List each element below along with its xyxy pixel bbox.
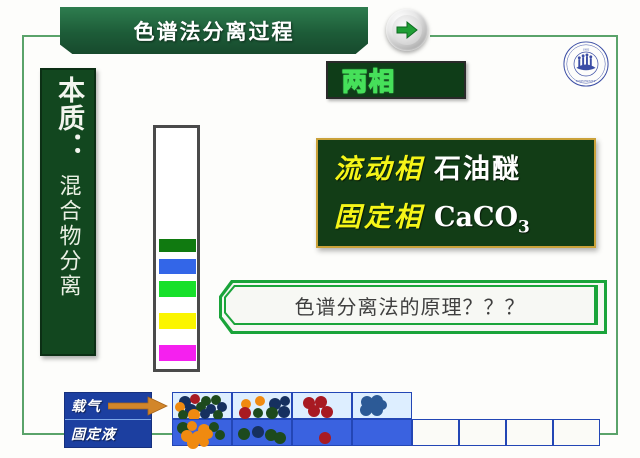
phase-info-box: 流动相 石油醚 固定相 CaCO3 (316, 138, 596, 248)
slide-canvas: 色谱法分离过程 1902 UNIVERSITY 本质： 混合物分离 两相 (0, 0, 640, 458)
arrow-right-icon (396, 20, 418, 40)
particle-red (308, 405, 320, 417)
next-button-face (392, 15, 422, 45)
chrom-cell-empty-0 (412, 419, 459, 446)
essence-heading: 本质： (54, 76, 82, 160)
university-seal-logo: 1902 UNIVERSITY (562, 40, 610, 88)
frame-line-top-left (22, 35, 62, 37)
chromatography-cell-grid (172, 392, 412, 446)
particle-dark-green (274, 432, 286, 444)
particle-orange (199, 437, 209, 447)
page-title: 色谱法分离过程 (60, 7, 368, 54)
chrom-cell-top-3 (352, 392, 412, 419)
question-box-face: 色谱分离法的原理？？？ (226, 287, 594, 323)
particle-red (321, 406, 333, 418)
chrom-cell-top-1 (232, 392, 292, 419)
essence-body: 混合物分离 (56, 174, 79, 299)
chrom-cell-empty-1 (459, 419, 506, 446)
particle-dark-blue (200, 409, 210, 419)
particle-dark-green (253, 408, 263, 418)
band-yellow (159, 313, 196, 329)
chrom-cell-bot-1 (232, 419, 292, 446)
legend-label-carrier-gas: 载气 (71, 396, 101, 416)
particle-dark-blue (280, 396, 290, 406)
svg-text:1902: 1902 (583, 48, 590, 52)
particle-dark-blue (252, 426, 264, 438)
chrom-cell-top-0 (172, 392, 232, 419)
stationary-phase-value: CaCO3 (434, 202, 530, 237)
particle-dark-blue (278, 406, 290, 418)
chrom-cell-bot-2 (292, 419, 352, 446)
stationary-phase-label: 固定相 (334, 195, 424, 234)
chrom-cell-empty-3 (553, 419, 600, 446)
stationary-phase-row: 固定相 CaCO3 (334, 195, 594, 243)
svg-text:UNIVERSITY: UNIVERSITY (576, 79, 597, 83)
particle-orange (187, 437, 199, 449)
carrier-gas-flow-arrow-icon (108, 396, 168, 416)
frame-line-right (616, 35, 618, 435)
particle-dark-green (266, 407, 278, 419)
mobile-phase-value: 石油醚 (434, 147, 521, 186)
two-phase-label: 两相 (342, 62, 396, 98)
mobile-phase-row: 流动相 石油醚 (334, 147, 594, 195)
legend-row-stationary-liquid: 固定液 (65, 420, 151, 447)
two-phase-box: 两相 (326, 61, 466, 99)
next-slide-button[interactable] (386, 9, 428, 51)
band-magenta (159, 345, 196, 361)
essence-panel: 本质： 混合物分离 (40, 68, 96, 356)
frame-line-left (22, 35, 24, 435)
question-text: 色谱分离法的原理？？？ (295, 291, 526, 320)
frame-line-top-right (430, 35, 618, 37)
chrom-cell-empty-2 (506, 419, 553, 446)
chrom-cell-bot-0 (172, 419, 232, 446)
legend-label-stationary-liquid: 固定液 (71, 424, 116, 444)
particle-dark-green (238, 428, 250, 440)
band-blue (159, 259, 196, 274)
particle-dark-green (215, 430, 225, 440)
question-box: 色谱分离法的原理？？？ (219, 280, 607, 334)
chrom-cell-bot-3 (352, 419, 412, 446)
title-banner: 色谱法分离过程 (60, 7, 368, 54)
band-dark-green (159, 239, 196, 252)
mobile-phase-label: 流动相 (334, 147, 424, 186)
particle-orange (255, 396, 265, 406)
particle-steel-blue (377, 400, 387, 410)
chrom-cell-top-2 (292, 392, 352, 419)
chromatography-column (153, 125, 200, 372)
particle-red (319, 432, 331, 444)
particle-red (239, 407, 251, 419)
band-green (159, 281, 196, 297)
